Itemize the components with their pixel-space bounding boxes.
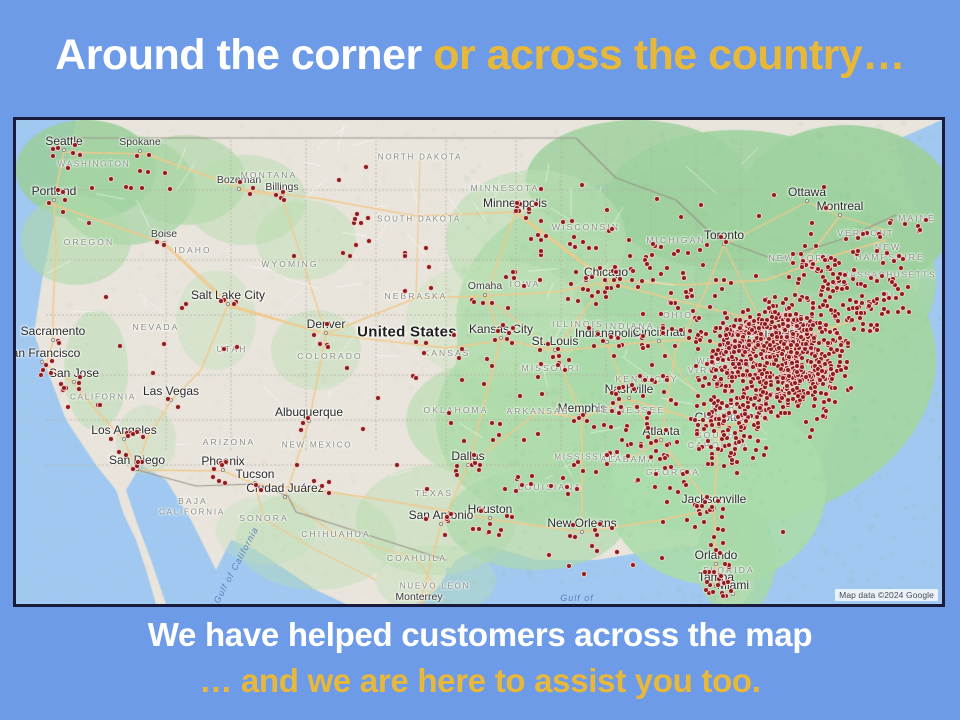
customer-dot bbox=[723, 349, 729, 355]
customer-dot bbox=[471, 299, 477, 305]
customer-dot bbox=[402, 253, 408, 259]
customer-dot bbox=[775, 379, 781, 385]
customer-dot bbox=[604, 452, 610, 458]
customer-dot bbox=[820, 284, 826, 290]
customer-dot bbox=[786, 354, 792, 360]
customer-dot bbox=[472, 460, 478, 466]
customer-dot bbox=[813, 243, 819, 249]
customer-dot bbox=[720, 506, 726, 512]
customer-dot bbox=[273, 192, 279, 198]
customer-dot bbox=[478, 508, 484, 514]
customer-dot bbox=[809, 311, 815, 317]
customer-dot bbox=[616, 343, 622, 349]
customer-dot bbox=[742, 349, 748, 355]
customer-dot bbox=[49, 358, 55, 364]
customer-dot bbox=[543, 233, 549, 239]
customer-dot bbox=[675, 489, 681, 495]
customer-dot bbox=[898, 265, 904, 271]
customer-dot bbox=[821, 184, 827, 190]
customer-dot bbox=[505, 305, 511, 311]
customer-dot bbox=[826, 351, 832, 357]
customer-dot bbox=[572, 244, 578, 250]
customer-dot bbox=[740, 402, 746, 408]
customer-dot bbox=[851, 326, 857, 332]
headline-part-white: Around the corner bbox=[55, 31, 433, 79]
customer-dot bbox=[489, 300, 495, 306]
customer-dot bbox=[768, 409, 774, 415]
customer-dot bbox=[703, 587, 709, 593]
customer-dot bbox=[723, 239, 729, 245]
customer-dot bbox=[758, 351, 764, 357]
customer-dot bbox=[89, 185, 95, 191]
customer-dot bbox=[736, 439, 742, 445]
customer-dot bbox=[72, 142, 78, 148]
customer-dot bbox=[812, 384, 818, 390]
customer-dot bbox=[734, 470, 740, 476]
customer-dot bbox=[694, 431, 700, 437]
customer-dot bbox=[593, 469, 599, 475]
customer-dot bbox=[803, 419, 809, 425]
customer-dot bbox=[886, 295, 892, 301]
customer-dot bbox=[421, 350, 427, 356]
customer-dot bbox=[506, 330, 512, 336]
customer-dot bbox=[781, 341, 787, 347]
customer-dot bbox=[617, 276, 623, 282]
customer-dot bbox=[336, 177, 342, 183]
customer-dot bbox=[701, 519, 707, 525]
customer-dot bbox=[697, 247, 703, 253]
customer-dot bbox=[511, 275, 517, 281]
customer-dot bbox=[103, 294, 109, 300]
customer-dot bbox=[808, 345, 814, 351]
customer-dot bbox=[812, 353, 818, 359]
customer-dot bbox=[845, 340, 851, 346]
customer-dot bbox=[575, 459, 581, 465]
customer-dot bbox=[708, 542, 714, 548]
customer-dot bbox=[567, 533, 573, 539]
customer-dot bbox=[644, 261, 650, 267]
customer-dot bbox=[50, 153, 56, 159]
customer-dot bbox=[783, 296, 789, 302]
customer-dot bbox=[714, 381, 720, 387]
customer-dot bbox=[597, 265, 603, 271]
customer-dot bbox=[570, 522, 576, 528]
customer-dot bbox=[593, 245, 599, 251]
customer-dot bbox=[86, 220, 92, 226]
customer-dot bbox=[528, 236, 534, 242]
customer-dot bbox=[595, 331, 601, 337]
customer-dot bbox=[660, 330, 666, 336]
customer-dot bbox=[900, 256, 906, 262]
customer-dot bbox=[545, 341, 551, 347]
customer-dot bbox=[750, 455, 756, 461]
customer-dot bbox=[638, 443, 644, 449]
customer-dot bbox=[767, 374, 773, 380]
customer-dot bbox=[829, 376, 835, 382]
customer-dot bbox=[688, 287, 694, 293]
customer-dot bbox=[748, 379, 754, 385]
customer-dot bbox=[734, 459, 740, 465]
customer-dot bbox=[843, 236, 849, 242]
customer-dot bbox=[360, 426, 366, 432]
customer-dot bbox=[819, 368, 825, 374]
customer-dot bbox=[782, 410, 788, 416]
customer-dot bbox=[481, 381, 487, 387]
customer-dot bbox=[711, 428, 717, 434]
customer-dot bbox=[700, 417, 706, 423]
customer-dot bbox=[62, 197, 68, 203]
customer-dot bbox=[154, 239, 160, 245]
customer-dot bbox=[523, 215, 529, 221]
customer-dot bbox=[448, 420, 454, 426]
customer-dot bbox=[885, 309, 891, 315]
customer-dot bbox=[710, 348, 716, 354]
customer-dot bbox=[794, 369, 800, 375]
customer-dot bbox=[140, 434, 146, 440]
customer-dot bbox=[719, 514, 725, 520]
customer-dot bbox=[749, 327, 755, 333]
customer-dot bbox=[740, 372, 746, 378]
customer-dot bbox=[537, 277, 543, 283]
customer-dot bbox=[216, 478, 222, 484]
customer-dot bbox=[905, 284, 911, 290]
customer-dot bbox=[838, 342, 844, 348]
customer-dot bbox=[649, 252, 655, 258]
customer-dot bbox=[684, 469, 690, 475]
customer-dot bbox=[660, 519, 666, 525]
customer-dot bbox=[755, 438, 761, 444]
customer-dot bbox=[762, 297, 768, 303]
customer-dot bbox=[161, 242, 167, 248]
customer-dot bbox=[717, 550, 723, 556]
customer-dot bbox=[692, 524, 698, 530]
customer-dot bbox=[521, 437, 527, 443]
customer-dot bbox=[816, 340, 822, 346]
customer-dot bbox=[146, 152, 152, 158]
customer-dot bbox=[786, 274, 792, 280]
customer-dot bbox=[503, 274, 509, 280]
customer-dot bbox=[762, 321, 768, 327]
customer-dot bbox=[797, 297, 803, 303]
customer-dot bbox=[747, 434, 753, 440]
customer-dot bbox=[566, 563, 572, 569]
customer-dot bbox=[750, 364, 756, 370]
customer-dot bbox=[756, 213, 762, 219]
map-city-marker bbox=[417, 604, 421, 607]
customer-dot bbox=[722, 364, 728, 370]
customer-dot bbox=[823, 391, 829, 397]
customer-dot bbox=[134, 153, 140, 159]
customer-dot bbox=[702, 375, 708, 381]
customer-dot bbox=[798, 316, 804, 322]
customer-dot bbox=[365, 215, 371, 221]
customer-dot bbox=[108, 176, 114, 182]
customer-dot bbox=[798, 251, 804, 257]
customer-dot bbox=[76, 386, 82, 392]
map-city-marker bbox=[580, 530, 584, 534]
customer-dot bbox=[589, 274, 595, 280]
customer-dot bbox=[827, 294, 833, 300]
footer-line-1: We have helped customers across the map bbox=[0, 612, 960, 658]
map-city-marker bbox=[52, 198, 56, 202]
headline-part-gold: or across the country… bbox=[433, 31, 905, 79]
customer-dot bbox=[774, 394, 780, 400]
customer-dot bbox=[707, 338, 713, 344]
customer-dot bbox=[162, 170, 168, 176]
map-container[interactable]: SeattlePortlandSacramentoSan FranciscoSa… bbox=[13, 117, 945, 607]
customer-dot bbox=[533, 201, 539, 207]
customer-dot bbox=[603, 294, 609, 300]
customer-dot bbox=[784, 383, 790, 389]
customer-dot bbox=[250, 185, 256, 191]
customer-dot bbox=[566, 357, 572, 363]
customer-dot bbox=[510, 269, 516, 275]
customer-dot bbox=[660, 373, 666, 379]
map-city-marker bbox=[237, 187, 241, 191]
customer-dot bbox=[305, 415, 311, 421]
customer-dot bbox=[803, 341, 809, 347]
customer-dot bbox=[583, 275, 589, 281]
customer-dot bbox=[461, 438, 467, 444]
customer-dot bbox=[629, 277, 635, 283]
customer-dot bbox=[48, 370, 54, 376]
customer-dot bbox=[895, 309, 901, 315]
customer-dot bbox=[721, 463, 727, 469]
customer-dot bbox=[394, 462, 400, 468]
customer-dot bbox=[510, 325, 516, 331]
customer-dot bbox=[231, 301, 237, 307]
customer-dot bbox=[562, 367, 568, 373]
customer-dot bbox=[887, 220, 893, 226]
customer-dot bbox=[402, 288, 408, 294]
customer-dot bbox=[860, 327, 866, 333]
customer-dot bbox=[128, 185, 134, 191]
customer-dot bbox=[728, 450, 734, 456]
customer-dot bbox=[311, 332, 317, 338]
customer-dot bbox=[413, 339, 419, 345]
customer-dot bbox=[130, 466, 136, 472]
customer-dot bbox=[117, 343, 123, 349]
customer-dot bbox=[874, 327, 880, 333]
customer-dot bbox=[722, 310, 728, 316]
customer-dot bbox=[476, 526, 482, 532]
customer-dot bbox=[675, 305, 681, 311]
customer-dot bbox=[832, 313, 838, 319]
customer-dot bbox=[46, 200, 52, 206]
customer-dot bbox=[612, 264, 618, 270]
customer-dot bbox=[210, 474, 216, 480]
customer-dot bbox=[654, 196, 660, 202]
customer-dot bbox=[779, 395, 785, 401]
customer-dot bbox=[686, 335, 692, 341]
customer-dot bbox=[363, 164, 369, 170]
customer-dot bbox=[538, 218, 544, 224]
customer-dot bbox=[715, 582, 721, 588]
customer-dot bbox=[842, 373, 848, 379]
customer-dot bbox=[815, 266, 821, 272]
customer-dot bbox=[70, 150, 76, 156]
customer-dot bbox=[589, 543, 595, 549]
customer-dot bbox=[648, 440, 654, 446]
customer-dot bbox=[60, 209, 66, 215]
customer-dot bbox=[796, 276, 802, 282]
customer-dot bbox=[413, 375, 419, 381]
customer-dot bbox=[805, 390, 811, 396]
customer-dot bbox=[689, 293, 695, 299]
customer-dot bbox=[874, 278, 880, 284]
customer-dot bbox=[576, 415, 582, 421]
customer-dot bbox=[65, 404, 71, 410]
customer-dot bbox=[693, 339, 699, 345]
customer-dot bbox=[662, 465, 668, 471]
customer-dot bbox=[513, 208, 519, 214]
customer-dot bbox=[695, 346, 701, 352]
customer-dot bbox=[785, 367, 791, 373]
customer-dot bbox=[135, 459, 141, 465]
customer-dot bbox=[145, 169, 151, 175]
customer-dot bbox=[77, 152, 83, 158]
customer-dot bbox=[517, 393, 523, 399]
customer-dot bbox=[736, 361, 742, 367]
customer-dot bbox=[594, 532, 600, 538]
customer-dot bbox=[711, 534, 717, 540]
customer-dot bbox=[645, 434, 651, 440]
customer-dot bbox=[859, 300, 865, 306]
customer-dot bbox=[702, 569, 708, 575]
customer-dot bbox=[843, 365, 849, 371]
customer-dot bbox=[757, 405, 763, 411]
customer-dot bbox=[586, 245, 592, 251]
customer-dot bbox=[640, 345, 646, 351]
customer-dot bbox=[492, 337, 498, 343]
customer-dot bbox=[700, 383, 706, 389]
customer-dot bbox=[497, 421, 503, 427]
customer-dot bbox=[616, 410, 622, 416]
customer-dot bbox=[694, 403, 700, 409]
customer-dot bbox=[832, 385, 838, 391]
customer-dot bbox=[627, 253, 633, 259]
customer-dot bbox=[720, 540, 726, 546]
customer-dot bbox=[498, 527, 504, 533]
customer-dot bbox=[601, 422, 607, 428]
customer-dot bbox=[695, 332, 701, 338]
customer-dot bbox=[720, 527, 726, 533]
customer-dot bbox=[490, 437, 496, 443]
customer-dot bbox=[509, 340, 515, 346]
customer-dot bbox=[748, 356, 754, 362]
customer-dot bbox=[528, 481, 534, 487]
customer-dot bbox=[640, 311, 646, 317]
customer-dot bbox=[423, 516, 429, 522]
customer-dot bbox=[753, 447, 759, 453]
customer-dot bbox=[853, 299, 859, 305]
customer-dot bbox=[786, 373, 792, 379]
customer-dot bbox=[642, 377, 648, 383]
customer-dot bbox=[764, 395, 770, 401]
map-city-marker bbox=[659, 438, 663, 442]
customer-dot bbox=[728, 397, 734, 403]
customer-dot bbox=[471, 452, 477, 458]
map-city-marker bbox=[838, 213, 842, 217]
customer-dot bbox=[211, 466, 217, 472]
customer-dot bbox=[496, 532, 502, 538]
customer-dot bbox=[784, 334, 790, 340]
customer-dot bbox=[486, 529, 492, 535]
customer-dot bbox=[648, 454, 654, 460]
customer-dot bbox=[580, 286, 586, 292]
customer-dot bbox=[649, 362, 655, 368]
customer-dot bbox=[519, 482, 525, 488]
customer-dot bbox=[798, 334, 804, 340]
map-city-marker bbox=[499, 336, 503, 340]
customer-dot bbox=[116, 449, 122, 455]
customer-dot bbox=[807, 434, 813, 440]
customer-dot bbox=[597, 521, 603, 527]
customer-dot bbox=[614, 449, 620, 455]
map-city-marker bbox=[439, 522, 443, 526]
customer-dot bbox=[700, 262, 706, 268]
customer-dot bbox=[773, 357, 779, 363]
customer-dot bbox=[917, 227, 923, 233]
customer-dot bbox=[763, 380, 769, 386]
customer-dot bbox=[705, 461, 711, 467]
customer-dot bbox=[65, 165, 71, 171]
customer-dot bbox=[442, 532, 448, 538]
customer-dot bbox=[658, 311, 664, 317]
customer-dot bbox=[237, 179, 243, 185]
customer-dot bbox=[825, 264, 831, 270]
customer-dot bbox=[709, 504, 715, 510]
customer-dot bbox=[521, 283, 527, 289]
footer-line-2: … and we are here to assist you too. bbox=[0, 658, 960, 704]
customer-dot bbox=[614, 549, 620, 555]
customer-dot bbox=[717, 405, 723, 411]
customer-dot bbox=[125, 433, 131, 439]
customer-dot bbox=[61, 385, 67, 391]
customer-dot bbox=[690, 308, 696, 314]
customer-dot bbox=[668, 290, 674, 296]
customer-dot bbox=[496, 432, 502, 438]
customer-dot bbox=[742, 446, 748, 452]
customer-dot bbox=[548, 483, 554, 489]
customer-dot bbox=[281, 197, 287, 203]
customer-dot bbox=[877, 234, 883, 240]
customer-dot bbox=[867, 328, 873, 334]
customer-dot bbox=[823, 205, 829, 211]
customer-dot bbox=[628, 441, 634, 447]
customer-dot bbox=[803, 374, 809, 380]
customer-dot bbox=[326, 479, 332, 485]
customer-dot bbox=[716, 416, 722, 422]
customer-dot bbox=[718, 573, 724, 579]
customer-dot bbox=[774, 334, 780, 340]
customer-dot bbox=[855, 248, 861, 254]
customer-dot bbox=[817, 377, 823, 383]
customer-dot bbox=[326, 490, 332, 496]
customer-dot bbox=[708, 397, 714, 403]
customer-dot bbox=[594, 548, 600, 554]
customer-dot bbox=[818, 312, 824, 318]
customer-dot bbox=[513, 488, 519, 494]
customer-dot bbox=[567, 241, 573, 247]
customer-dot bbox=[678, 327, 684, 333]
customer-dot bbox=[604, 207, 610, 213]
customer-dot bbox=[175, 404, 181, 410]
customer-dot bbox=[672, 343, 678, 349]
customer-dot bbox=[772, 324, 778, 330]
customer-dot bbox=[685, 250, 691, 256]
customer-dot bbox=[221, 346, 227, 352]
